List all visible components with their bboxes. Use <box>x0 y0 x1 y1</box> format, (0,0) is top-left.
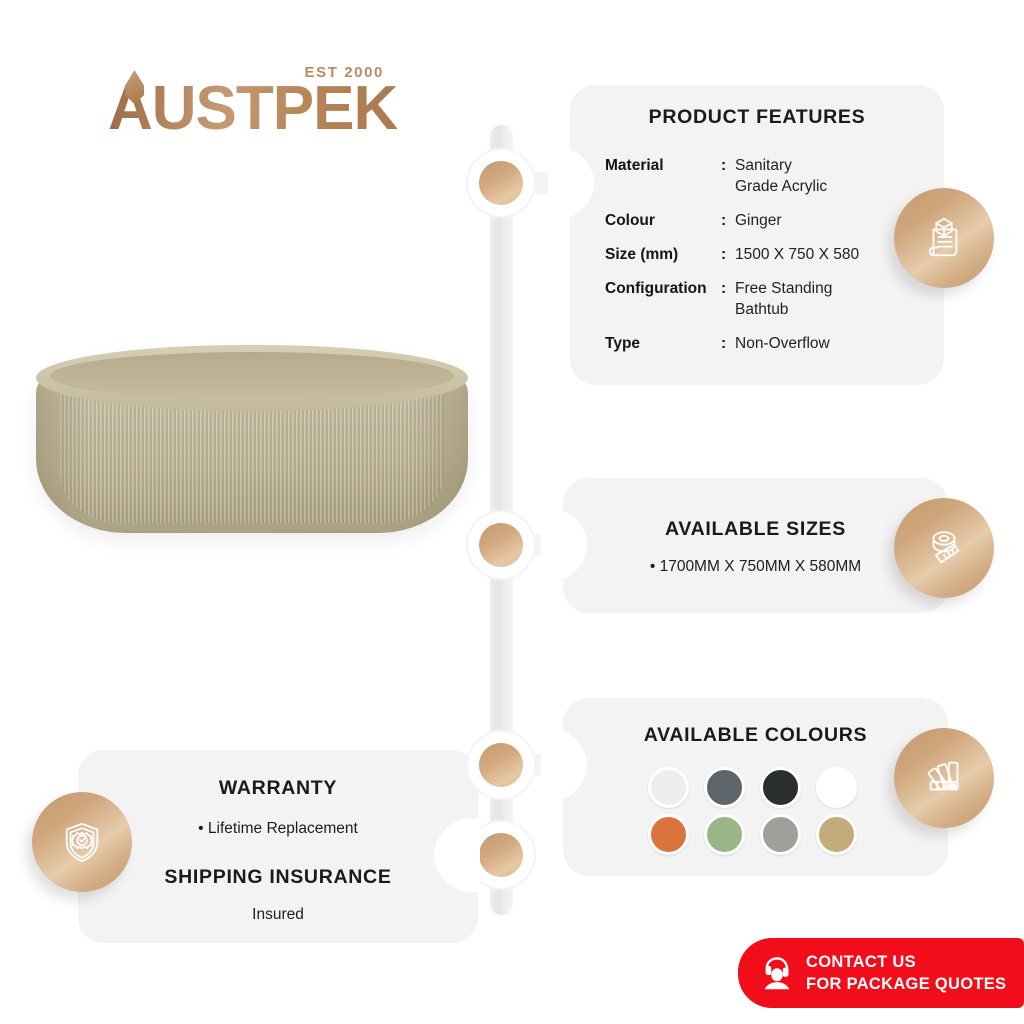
bathtub-rim <box>36 345 468 411</box>
colour-swatch-gloss-white[interactable] <box>648 767 689 808</box>
product-features-panel: PRODUCT FEATURES Material : Sanitary Gra… <box>570 85 944 385</box>
available-sizes-title: AVAILABLE SIZES <box>563 518 948 541</box>
available-colours-panel: AVAILABLE COLOURS <box>563 698 948 876</box>
product-features-list: Material : Sanitary Grade Acrylic Colour… <box>570 155 944 354</box>
feature-value: Ginger <box>735 210 782 231</box>
feature-label: Type <box>605 333 721 354</box>
clipboard-spec-icon-badge <box>894 188 994 288</box>
feature-value-line1: Free Standing <box>735 280 832 297</box>
product-image <box>36 345 468 537</box>
colour-swatch-slate-grey[interactable] <box>704 767 745 808</box>
product-features-title: PRODUCT FEATURES <box>570 106 944 129</box>
list-item: • Lifetime Replacement <box>78 820 478 838</box>
colour-swatch-fan-icon <box>921 755 967 801</box>
feature-label: Material <box>605 155 721 197</box>
brand-name: AUSTPEK <box>108 78 397 140</box>
feature-row-material: Material : Sanitary Grade Acrylic <box>605 155 944 197</box>
feature-colon: : <box>721 333 735 354</box>
feature-value-line1: Sanitary <box>735 157 792 174</box>
shipping-insurance-value: Insured <box>78 906 478 924</box>
cta-line-2: FOR PACKAGE QUOTES <box>806 973 1006 995</box>
feature-row-colour: Colour : Ginger <box>605 210 944 231</box>
feature-colon: : <box>721 210 735 231</box>
warranty-title: WARRANTY <box>78 777 478 800</box>
available-sizes-panel: AVAILABLE SIZES • 1700MM X 750MM X 580MM <box>563 478 948 613</box>
cta-line-1: CONTACT US <box>806 951 1006 973</box>
spine-node-colours <box>479 743 523 787</box>
feature-label: Configuration <box>605 278 721 320</box>
colour-swatch-sage-green[interactable] <box>704 814 745 855</box>
headset-support-icon-svg <box>756 952 798 994</box>
spine-node-sizes <box>479 523 523 567</box>
feature-value-line2: Grade Acrylic <box>735 176 827 197</box>
warranty-list: • Lifetime Replacement <box>78 820 478 838</box>
feature-value: 1500 X 750 X 580 <box>735 244 859 265</box>
feature-value: Non-Overflow <box>735 333 830 354</box>
feature-value: Free Standing Bathtub <box>735 278 832 320</box>
colour-swatch-ginger[interactable] <box>816 814 857 855</box>
list-item: • 1700MM X 750MM X 580MM <box>563 558 948 576</box>
shield-check-icon <box>59 819 105 865</box>
measuring-tape-icon-badge <box>894 498 994 598</box>
available-sizes-list: • 1700MM X 750MM X 580MM <box>563 558 948 576</box>
clipboard-spec-icon <box>921 215 967 261</box>
contact-us-cta-text: CONTACT US FOR PACKAGE QUOTES <box>806 951 1006 995</box>
feature-colon: : <box>721 155 735 197</box>
feature-value-line2: Bathtub <box>735 299 832 320</box>
feature-label: Size (mm) <box>605 244 721 265</box>
contact-us-cta[interactable]: CONTACT US FOR PACKAGE QUOTES <box>738 938 1024 1008</box>
shield-check-icon-badge <box>32 792 132 892</box>
colour-swatch-fan-icon-badge <box>894 728 994 828</box>
colour-swatch-warm-grey[interactable] <box>760 814 801 855</box>
connector-spine <box>490 125 513 915</box>
headset-support-icon <box>748 952 806 994</box>
colour-swatch-matte-black[interactable] <box>760 767 801 808</box>
available-colours-title: AVAILABLE COLOURS <box>563 724 948 747</box>
spine-node-features <box>479 161 523 205</box>
colour-swatch-grid <box>648 767 864 855</box>
feature-value: Sanitary Grade Acrylic <box>735 155 827 197</box>
feature-colon: : <box>721 244 735 265</box>
feature-row-configuration: Configuration : Free Standing Bathtub <box>605 278 944 320</box>
spine-node-warranty <box>479 833 523 877</box>
feature-row-type: Type : Non-Overflow <box>605 333 944 354</box>
feature-label: Colour <box>605 210 721 231</box>
warranty-panel: WARRANTY • Lifetime Replacement SHIPPING… <box>78 750 478 943</box>
feature-row-size: Size (mm) : 1500 X 750 X 580 <box>605 244 944 265</box>
measuring-tape-icon <box>921 525 967 571</box>
shipping-insurance-title: SHIPPING INSURANCE <box>78 866 478 889</box>
colour-swatch-pure-white[interactable] <box>816 767 857 808</box>
bathtub-rim-inner <box>50 352 454 400</box>
feature-colon: : <box>721 278 735 320</box>
brand-logo: EST 2000 AUSTPEK <box>108 58 408 144</box>
colour-swatch-terracotta[interactable] <box>648 814 689 855</box>
